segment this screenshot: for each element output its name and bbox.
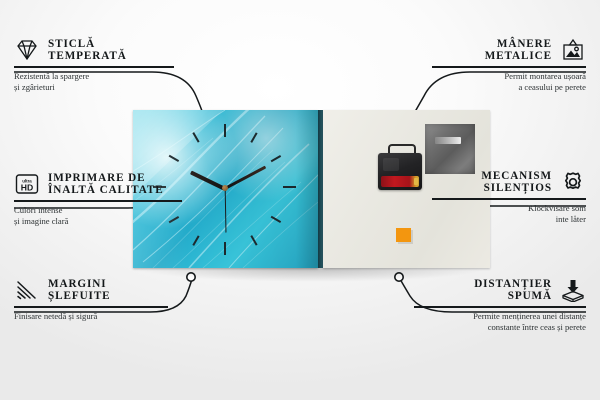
quartz-movement <box>378 153 422 190</box>
feature-sub-line2: a ceasului pe perete <box>432 82 586 94</box>
feature-rule <box>14 306 168 307</box>
feature-titles: STICLĂ TEMPERATĂ <box>48 38 127 62</box>
feature-sub-line2: și imagine clară <box>14 216 182 228</box>
tick-6 <box>224 242 226 255</box>
feature-sub-line1: Permit montarea ușoară <box>432 71 586 83</box>
feature-sub-line2: și zgârieturi <box>14 82 174 94</box>
feature-metal-hangers: MÂNERE METALICE Permit montarea ușoară a… <box>432 38 586 94</box>
press-down-pad-icon <box>560 278 586 302</box>
feature-rule <box>14 66 174 67</box>
feature-title-line2: TEMPERATĂ <box>48 50 127 62</box>
feature-head: MECANISM SILENȚIOS <box>432 170 586 194</box>
feature-title-line2: SPUMĂ <box>474 290 552 302</box>
feature-sub-line1: Rezistentă la spargere <box>14 71 174 83</box>
feature-rule <box>14 200 182 201</box>
feature-titles: MECANISM SILENȚIOS <box>481 170 552 194</box>
feature-title-line1: MÂNERE <box>485 38 552 50</box>
foam-spacer <box>396 228 411 242</box>
feature-sub-line1: Culori intense <box>14 205 182 217</box>
metal-hanger-closeup <box>425 124 475 174</box>
svg-text:HD: HD <box>21 182 33 192</box>
feature-rule <box>432 66 586 67</box>
feature-title-line1: MARGINI <box>48 278 111 290</box>
feature-sub-line2: inte låter <box>432 214 586 226</box>
clock-hour-hand <box>190 171 226 191</box>
tick-11 <box>192 132 199 142</box>
feature-head: MÂNERE METALICE <box>432 38 586 62</box>
feature-head: ultra HD IMPRIMARE DE ÎNALTĂ CALITATE <box>14 172 182 196</box>
feature-foam-spacer: DISTANȚIER SPUMĂ Permite menținerea unei… <box>414 278 586 334</box>
feature-sub-line2: constante între ceas și perete <box>414 322 586 334</box>
feature-polished-edges: MARGINI ȘLEFUITE Finisare netedă și sigu… <box>14 278 168 322</box>
feature-title-line1: IMPRIMARE DE <box>48 172 164 184</box>
feature-tempered-glass: STICLĂ TEMPERATĂ Rezistentă la spargere … <box>14 38 174 94</box>
infographic-stage: STICLĂ TEMPERATĂ Rezistentă la spargere … <box>0 0 600 400</box>
tick-5 <box>250 235 257 245</box>
tick-3 <box>283 186 296 188</box>
tick-4 <box>271 216 281 223</box>
tick-2 <box>271 155 281 162</box>
feature-silent-mechanism: MECANISM SILENȚIOS Klockvisare som inte … <box>432 170 586 226</box>
tick-12 <box>224 124 226 137</box>
feature-titles: MÂNERE METALICE <box>485 38 552 62</box>
feature-head: MARGINI ȘLEFUITE <box>14 278 168 302</box>
polished-edge-icon <box>14 278 40 302</box>
feature-rule <box>432 198 586 199</box>
feature-titles: DISTANȚIER SPUMĂ <box>474 278 552 302</box>
feature-head: STICLĂ TEMPERATĂ <box>14 38 174 62</box>
feature-rule <box>414 306 586 307</box>
feature-sub-line1: Permite menținerea unei distanțe <box>414 311 586 323</box>
feature-title-line2: ÎNALTĂ CALITATE <box>48 184 164 196</box>
picture-hanger-icon <box>560 38 586 62</box>
feature-title-line2: ȘLEFUITE <box>48 290 111 302</box>
feature-title-line2: SILENȚIOS <box>481 182 552 194</box>
feature-sub-line1: Finisare netedă și sigură <box>14 311 168 323</box>
tick-10 <box>169 155 179 162</box>
feature-sub-line1: Klockvisare som <box>432 203 586 215</box>
feature-title-line1: STICLĂ <box>48 38 127 50</box>
feature-head: DISTANȚIER SPUMĂ <box>414 278 586 302</box>
feature-high-quality-print: ultra HD IMPRIMARE DE ÎNALTĂ CALITATE Cu… <box>14 172 182 228</box>
feature-title-line1: DISTANȚIER <box>474 278 552 290</box>
clock-mechanism-assembly <box>378 144 422 190</box>
ultra-hd-icon: ultra HD <box>14 172 40 196</box>
feature-titles: IMPRIMARE DE ÎNALTĂ CALITATE <box>48 172 164 196</box>
battery <box>381 176 419 187</box>
feature-titles: MARGINI ȘLEFUITE <box>48 278 111 302</box>
clock-center-hub <box>222 185 228 191</box>
gear-icon <box>560 170 586 194</box>
clock-minute-hand <box>224 166 266 191</box>
clock-second-hand <box>224 189 226 233</box>
tick-1 <box>250 132 257 142</box>
tick-7 <box>192 235 199 245</box>
feature-title-line2: METALICE <box>485 50 552 62</box>
feature-title-line1: MECANISM <box>481 170 552 182</box>
diamond-icon <box>14 38 40 62</box>
